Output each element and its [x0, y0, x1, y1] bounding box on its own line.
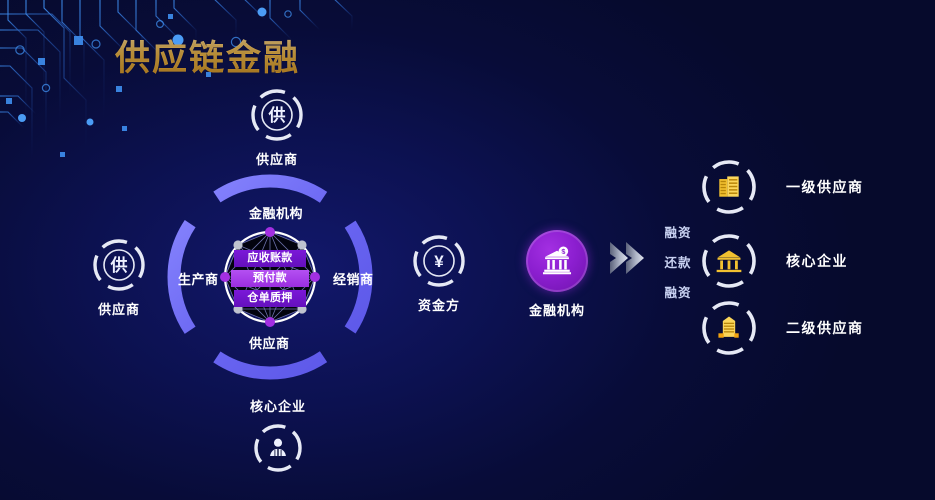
inner-label-right: 经销商 [333, 269, 374, 288]
list-item-label: 二级供应商 [786, 318, 864, 338]
dashed-ring [700, 299, 758, 357]
product-bar-warehouse-receipt[interactable]: 仓单质押 [234, 290, 306, 307]
double-chevron-right-icon [608, 238, 652, 278]
flow-label-3: 融资 [648, 282, 708, 301]
purple-disc: $ [526, 230, 588, 292]
dashed-ring [700, 232, 758, 290]
inner-label-bottom: 供应商 [249, 333, 290, 352]
list-item-label: 一级供应商 [786, 177, 864, 197]
bank-dollar-icon: $ [526, 230, 588, 292]
tower-building-icon [700, 299, 758, 357]
product-bar-receivables[interactable]: 应收账款 [234, 250, 306, 267]
person-icon [251, 421, 305, 475]
dashed-ring: 供 [92, 238, 146, 292]
flow-labels: 融资 还款 融资 [648, 222, 708, 312]
dashed-ring: ¥ [412, 234, 466, 288]
product-bar-prepayment[interactable]: 预付款 [231, 270, 309, 287]
inner-label-top: 金融机构 [249, 203, 303, 222]
page-title: 供应链金融 [115, 30, 300, 81]
dashed-ring: 供 [250, 88, 304, 142]
node-label: 供应商 [85, 299, 153, 318]
dashed-ring [700, 158, 758, 216]
list-item-tier1-supplier[interactable]: 一级供应商 [700, 158, 864, 216]
node-funder[interactable]: ¥ 资金方 [405, 234, 473, 314]
list-item-tier2-supplier[interactable]: 二级供应商 [700, 299, 864, 357]
flow-label-2: 还款 [648, 252, 708, 271]
node-supplier-left[interactable]: 供 供应商 [85, 238, 153, 318]
node-core-enterprise[interactable]: 核心企业 [238, 396, 318, 475]
list-item-label: 核心企业 [786, 251, 848, 271]
node-label: 资金方 [405, 295, 473, 314]
node-label: 供应商 [243, 149, 311, 168]
product-bars: 应收账款 预付款 仓单质押 [222, 236, 318, 320]
bank-columns-icon [700, 232, 758, 290]
gong-char-icon: 供 [92, 238, 146, 292]
node-label: 金融机构 [520, 300, 594, 319]
dashed-ring [251, 421, 305, 475]
office-building-icon [700, 158, 758, 216]
slide-canvas: 供应链金融 [0, 0, 935, 500]
node-financial-institution[interactable]: $ 金融机构 [520, 230, 594, 319]
gong-char-icon: 供 [250, 88, 304, 142]
list-item-core-enterprise[interactable]: 核心企业 [700, 232, 848, 290]
node-supplier-top[interactable]: 供 供应商 [243, 88, 311, 168]
flow-label-1: 融资 [648, 222, 708, 241]
node-label: 核心企业 [238, 396, 318, 415]
inner-label-left: 生产商 [178, 269, 219, 288]
yuan-circle-icon: ¥ [412, 234, 466, 288]
